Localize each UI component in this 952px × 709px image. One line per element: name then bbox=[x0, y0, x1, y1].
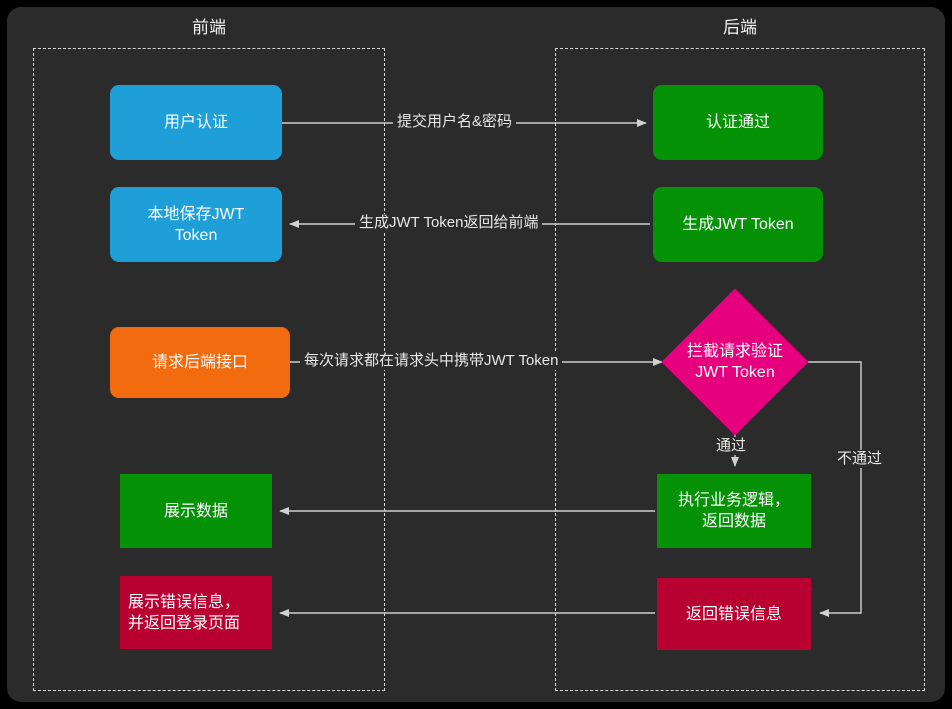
edge-label-pass: 通过 bbox=[712, 437, 750, 455]
node-show-data[interactable]: 展示数据 bbox=[120, 474, 272, 548]
node-user-auth[interactable]: 用户认证 bbox=[110, 85, 282, 160]
node-verify-jwt-label: 拦截请求验证 JWT Token bbox=[650, 341, 820, 383]
node-save-jwt[interactable]: 本地保存JWT Token bbox=[110, 187, 282, 262]
node-verify-jwt[interactable]: 拦截请求验证 JWT Token bbox=[683, 310, 787, 414]
node-show-error[interactable]: 展示错误信息， 并返回登录页面 bbox=[120, 576, 272, 649]
subgraph-backend-title: 后端 bbox=[555, 18, 925, 38]
node-generate-jwt[interactable]: 生成JWT Token bbox=[653, 187, 823, 262]
edge-label-submit-credentials: 提交用户名&密码 bbox=[393, 113, 516, 131]
edge-label-not-pass: 不通过 bbox=[833, 450, 886, 468]
flowchart-canvas: 前端 后端 用户认证 本地保存JWT Token 请求后端接口 展示数据 展示错… bbox=[0, 0, 952, 709]
edge-label-carry-jwt-in-header: 每次请求都在请求头中携带JWT Token bbox=[300, 352, 562, 370]
edge-label-return-jwt-to-frontend: 生成JWT Token返回给前端 bbox=[355, 214, 542, 232]
node-auth-pass[interactable]: 认证通过 bbox=[653, 85, 823, 160]
node-return-error[interactable]: 返回错误信息 bbox=[657, 578, 811, 650]
node-business-logic[interactable]: 执行业务逻辑， 返回数据 bbox=[657, 474, 811, 548]
subgraph-frontend-title: 前端 bbox=[33, 18, 385, 38]
node-request-backend[interactable]: 请求后端接口 bbox=[110, 327, 290, 398]
